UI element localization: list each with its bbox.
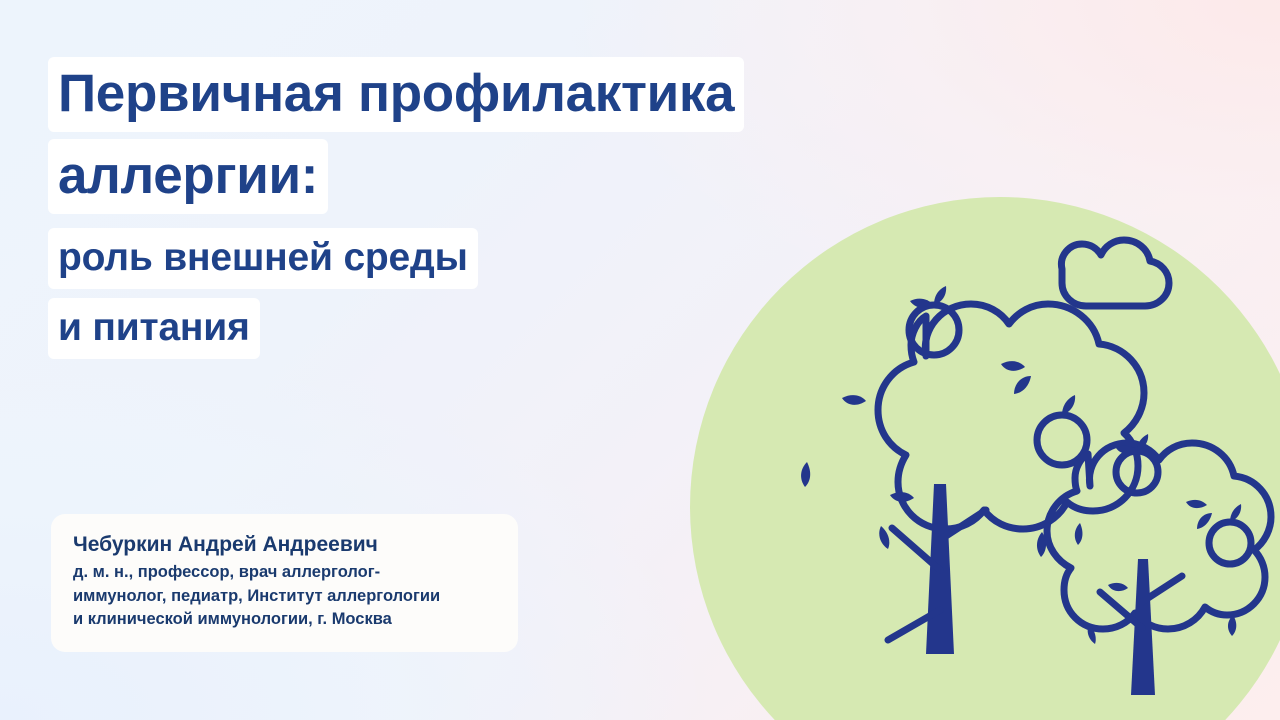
trees-illustration <box>690 190 1280 720</box>
slide-title: Первичная профилактика аллергии: <box>48 57 688 221</box>
tree-right <box>1047 434 1271 695</box>
author-credentials-line-2: иммунолог, педиатр, Институт аллергологи… <box>73 585 496 608</box>
apple-fruit <box>1037 395 1087 465</box>
author-card: Чебуркин Андрей Андреевич д. м. н., проф… <box>51 514 518 652</box>
title-line-2: аллергии: <box>48 139 328 214</box>
text-column: Первичная профилактика аллергии: роль вн… <box>0 0 700 720</box>
subtitle-line-1: роль внешней среды <box>48 228 478 289</box>
author-credentials-line-1: д. м. н., профессор, врач аллерголог- <box>73 561 496 584</box>
author-credentials: д. м. н., профессор, врач аллерголог- им… <box>73 561 496 631</box>
title-line-1: Первичная профилактика <box>48 57 744 132</box>
subtitle-line-2: и питания <box>48 298 260 359</box>
apple-fruit <box>1209 504 1251 564</box>
presentation-slide: Первичная профилактика аллергии: роль вн… <box>0 0 1280 720</box>
author-name: Чебуркин Андрей Андреевич <box>73 532 496 558</box>
slide-subtitle: роль внешней среды и питания <box>48 228 688 368</box>
cloud-icon <box>1061 240 1169 306</box>
author-credentials-line-3: и клинической иммунологии, г. Москва <box>73 608 496 631</box>
